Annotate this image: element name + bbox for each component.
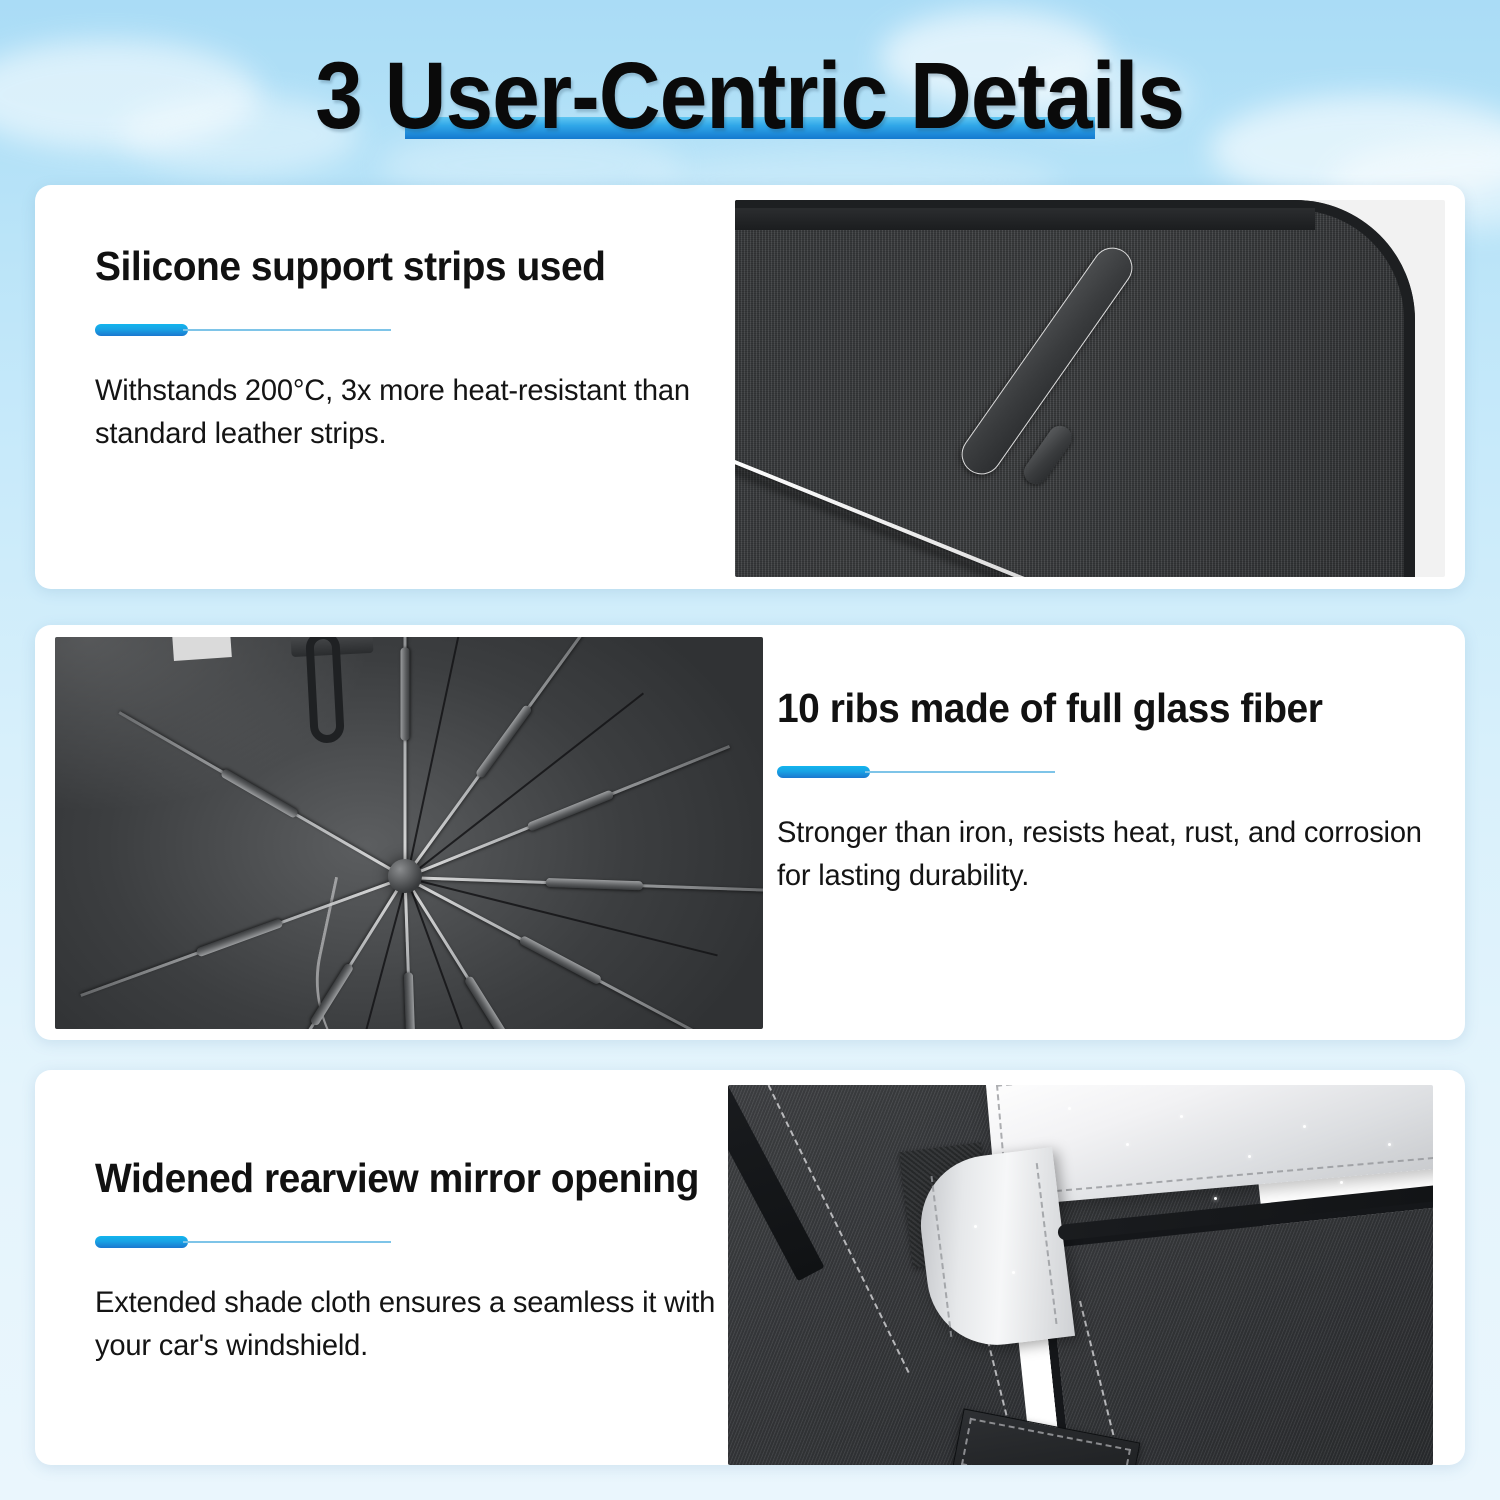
sparkle-icon bbox=[974, 1225, 977, 1228]
divider-segment bbox=[777, 766, 870, 778]
card-2-heading: 10 ribs made of full glass fiber bbox=[777, 685, 1414, 732]
header: 3 User-Centric Details bbox=[0, 0, 1500, 185]
feature-card-3: Widened rearview mirror opening Extended… bbox=[35, 1070, 1465, 1465]
infographic-page: 3 User-Centric Details Silicone support … bbox=[0, 0, 1500, 1500]
page-title: 3 User-Centric Details bbox=[316, 49, 1185, 144]
sparkle-icon bbox=[1214, 1197, 1217, 1200]
card-3-body: Extended shade cloth ensures a seamless … bbox=[95, 1282, 755, 1367]
sparkle-icon bbox=[1248, 1155, 1251, 1158]
card-2-text-block: 10 ribs made of full glass fiber Stronge… bbox=[777, 685, 1447, 897]
sunshade-top-band bbox=[735, 208, 1315, 230]
divider-segment bbox=[95, 324, 188, 336]
divider-segment bbox=[95, 1236, 188, 1248]
card-3-heading: Widened rearview mirror opening bbox=[95, 1155, 741, 1202]
card-1-text-block: Silicone support strips used Withstands … bbox=[95, 243, 715, 455]
sparkle-icon bbox=[1340, 1181, 1343, 1184]
card-1-body: Withstands 200°C, 3x more heat-resistant… bbox=[95, 370, 696, 455]
sparkle-icon bbox=[1126, 1143, 1129, 1146]
divider-rail bbox=[183, 329, 391, 331]
sparkle-icon bbox=[1180, 1115, 1183, 1118]
sparkle-icon bbox=[1068, 1107, 1071, 1110]
feature-card-2: 10 ribs made of full glass fiber Stronge… bbox=[35, 625, 1465, 1040]
feature-image-1 bbox=[735, 200, 1445, 577]
umbrella-handle bbox=[305, 637, 345, 744]
card-1-heading: Silicone support strips used bbox=[95, 243, 684, 290]
sparkle-icon bbox=[1388, 1143, 1391, 1146]
title-wrap: 3 User-Centric Details bbox=[267, 41, 1232, 144]
card-3-text-block: Widened rearview mirror opening Extended… bbox=[95, 1155, 775, 1367]
umbrella-hub bbox=[388, 859, 422, 893]
divider-rail bbox=[865, 771, 1055, 773]
feature-image-2 bbox=[55, 637, 763, 1029]
sparkle-icon bbox=[1012, 1271, 1015, 1274]
sparkle-icon bbox=[1303, 1125, 1306, 1128]
card-2-body: Stronger than iron, resists heat, rust, … bbox=[777, 812, 1427, 897]
feature-image-3 bbox=[728, 1085, 1433, 1465]
card-2-divider bbox=[777, 766, 1447, 778]
sunshade-edge-binding bbox=[735, 200, 1415, 577]
glass-fiber-rib bbox=[404, 637, 407, 878]
feature-card-1: Silicone support strips used Withstands … bbox=[35, 185, 1465, 589]
card-3-divider bbox=[95, 1236, 775, 1248]
card-1-divider bbox=[95, 324, 715, 336]
divider-rail bbox=[183, 1241, 391, 1243]
canopy-label-tag bbox=[172, 637, 232, 661]
